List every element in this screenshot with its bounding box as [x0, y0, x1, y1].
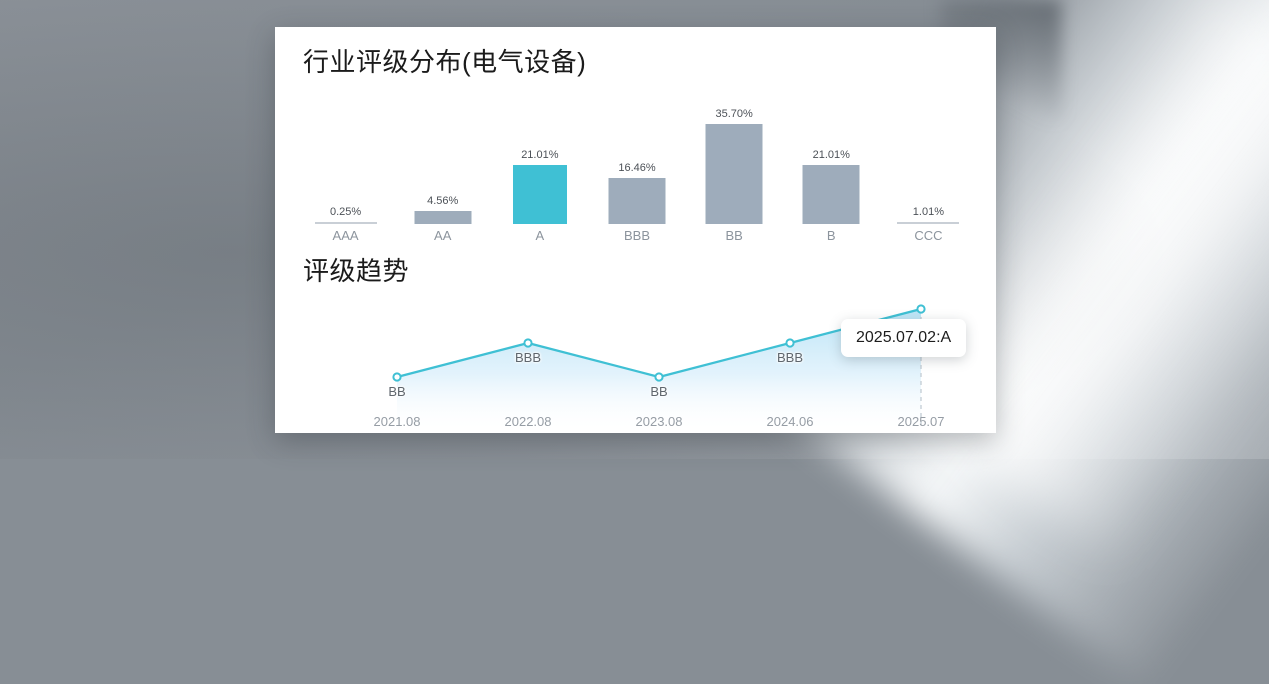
x-axis-tick-2024.06: 2024.06: [767, 414, 814, 429]
bar-category-label-bb: BB: [725, 228, 742, 243]
bar-value-label-ccc: 1.01%: [913, 206, 944, 218]
line-point-label-2023.08: BB: [650, 384, 667, 399]
bar-category-label-bbb: BBB: [624, 228, 650, 243]
line-chart-title: 评级趋势: [303, 251, 409, 288]
line-point-2021.08[interactable]: [393, 373, 400, 380]
line-point-2023.08[interactable]: [655, 373, 662, 380]
bar-b[interactable]: [803, 165, 860, 224]
bar-group-bbb[interactable]: 16.46%BBB: [588, 93, 685, 243]
bar-group-ccc[interactable]: 1.01%CCC: [880, 93, 977, 243]
line-point-2025.07[interactable]: [917, 305, 924, 312]
bar-value-label-b: 21.01%: [813, 149, 850, 161]
bar-bb[interactable]: [706, 124, 763, 224]
bar-a[interactable]: [513, 165, 567, 224]
line-chart-tooltip: 2025.07.02:A: [841, 319, 966, 357]
bar-category-label-b: B: [827, 228, 836, 243]
x-axis-tick-2023.08: 2023.08: [636, 414, 683, 429]
bar-group-a[interactable]: 21.01%A: [491, 93, 588, 243]
bar-aa[interactable]: [414, 211, 471, 224]
bar-ccc[interactable]: [897, 222, 959, 224]
bar-group-b[interactable]: 21.01%B: [783, 93, 880, 243]
line-point-2022.08[interactable]: [524, 339, 531, 346]
bar-category-label-aaa: AAA: [333, 228, 359, 243]
x-axis-tick-2022.08: 2022.08: [505, 414, 552, 429]
bar-value-label-bb: 35.70%: [715, 108, 752, 120]
bar-category-label-a: A: [536, 228, 545, 243]
bar-value-label-bbb: 16.46%: [618, 162, 655, 174]
bar-category-label-ccc: CCC: [914, 228, 942, 243]
line-point-label-2021.08: BB: [388, 384, 405, 399]
line-point-label-2024.06: BBB: [777, 350, 803, 365]
line-point-2024.06[interactable]: [786, 339, 793, 346]
rating-trend-line-chart: 2025.07.02:A BBBBBBBBBB2021.082022.08202…: [297, 299, 977, 429]
bar-group-aaa[interactable]: 0.25%AAA: [297, 93, 394, 243]
bar-value-label-aa: 4.56%: [427, 195, 458, 207]
x-axis-tick-2021.08: 2021.08: [374, 414, 421, 429]
x-axis-tick-2025.07: 2025.07: [898, 414, 945, 429]
bar-group-aa[interactable]: 4.56%AA: [394, 93, 491, 243]
line-point-label-2022.08: BBB: [515, 350, 541, 365]
bar-category-label-aa: AA: [434, 228, 451, 243]
bar-aaa[interactable]: [315, 222, 377, 224]
bar-group-bb[interactable]: 35.70%BB: [686, 93, 783, 243]
bar-value-label-a: 21.01%: [521, 149, 558, 161]
rating-distribution-bar-chart: 0.25%AAA4.56%AA21.01%A16.46%BBB35.70%BB2…: [297, 93, 977, 243]
bar-chart-title: 行业评级分布(电气设备): [303, 42, 586, 79]
bar-bbb[interactable]: [608, 178, 665, 224]
bar-value-label-aaa: 0.25%: [330, 206, 361, 218]
dashboard-card: 行业评级分布(电气设备) 0.25%AAA4.56%AA21.01%A16.46…: [275, 27, 996, 433]
